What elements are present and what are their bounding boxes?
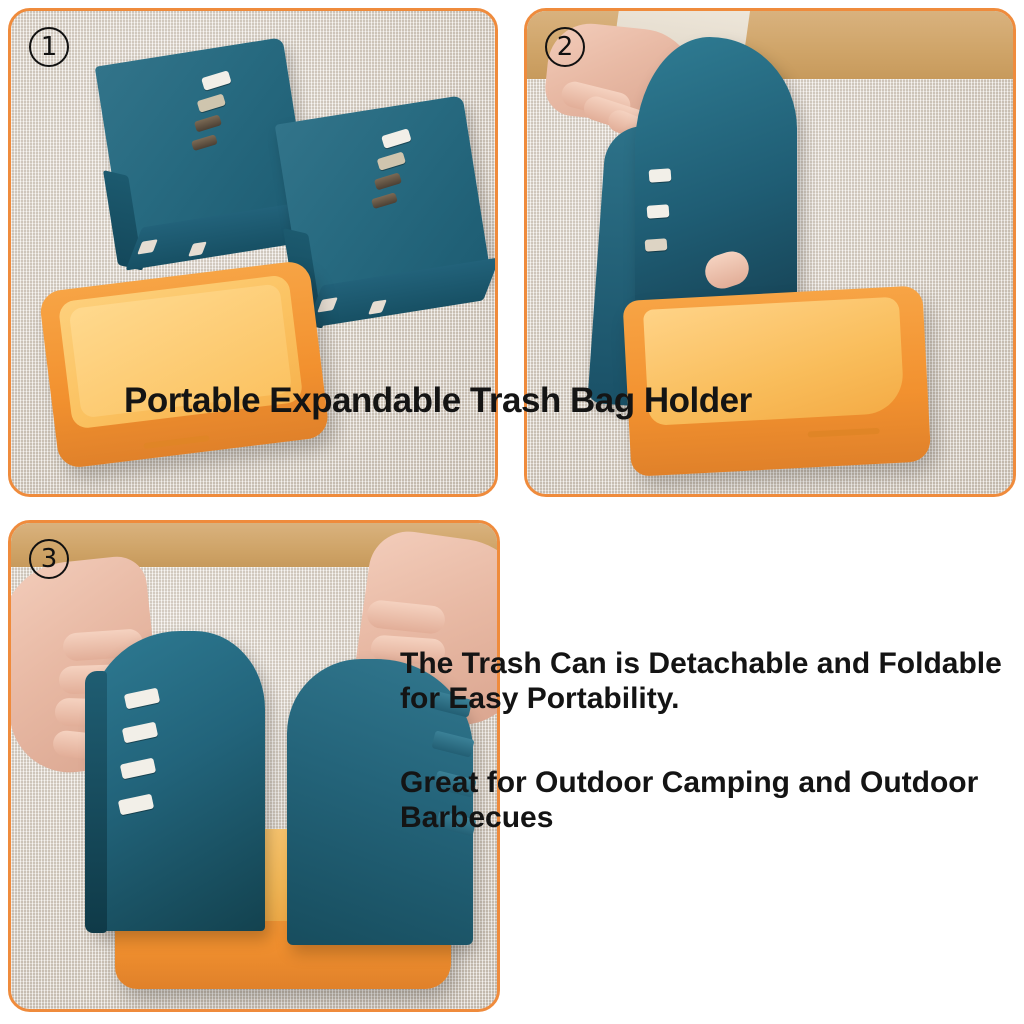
orange-base-tray bbox=[27, 244, 352, 494]
panel-2-inserting-side: 2 bbox=[524, 8, 1016, 497]
feature-line-2: Great for Outdoor Camping and Outdoor Ba… bbox=[400, 765, 1018, 836]
panel-1-disassembled-parts: 1 bbox=[8, 8, 498, 497]
step-badge-1: 1 bbox=[29, 27, 69, 67]
step-badge-3: 3 bbox=[29, 539, 69, 579]
infographic-canvas: 1 bbox=[0, 0, 1024, 1024]
feature-copy-block: The Trash Can is Detachable and Foldable… bbox=[400, 646, 1018, 858]
product-headline: Portable Expandable Trash Bag Holder bbox=[124, 381, 752, 421]
panel-2-photo bbox=[527, 11, 1013, 494]
feature-line-1: The Trash Can is Detachable and Foldable… bbox=[400, 646, 1018, 717]
panel-1-photo bbox=[11, 11, 495, 494]
teal-side-panel-front-left bbox=[89, 619, 279, 939]
step-badge-2: 2 bbox=[545, 27, 585, 67]
